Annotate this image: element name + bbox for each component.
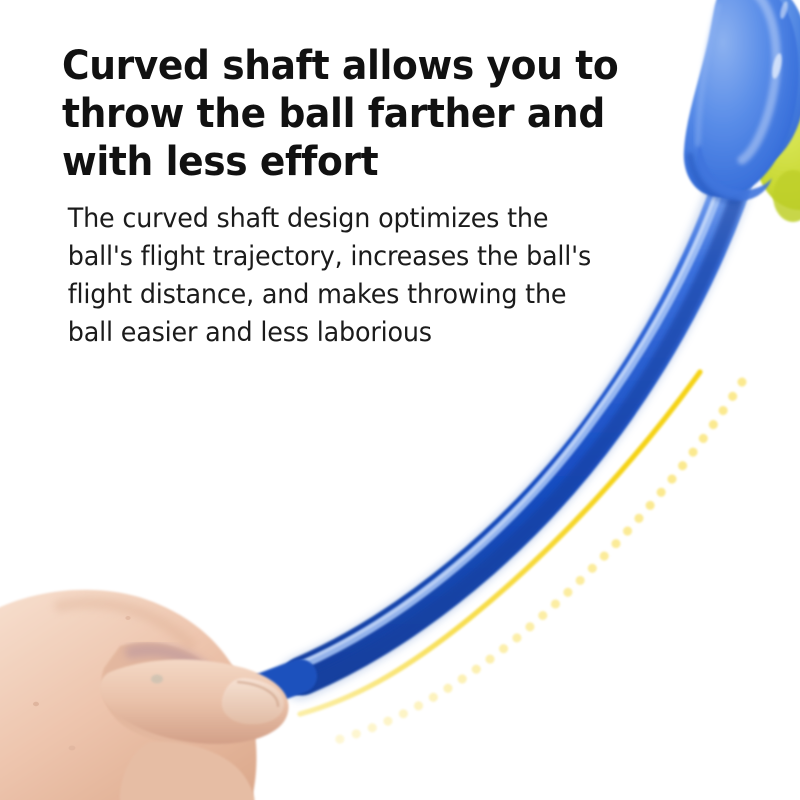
page-title: Curved shaft allows you to throw the bal… xyxy=(62,42,645,186)
hand-grip xyxy=(0,590,300,800)
skin-mark-b xyxy=(69,746,76,751)
ball-cup-head xyxy=(684,0,800,222)
copy-block: Curved shaft allows you to throw the bal… xyxy=(62,42,682,352)
skin-mark-c xyxy=(125,616,130,620)
ring-glint xyxy=(151,675,163,684)
skin-mark-a xyxy=(33,702,39,706)
trajectory-arc xyxy=(300,372,742,742)
description-text: The curved shaft design optimizes the ba… xyxy=(62,186,657,352)
product-feature-image: Curved shaft allows you to throw the bal… xyxy=(0,0,800,800)
